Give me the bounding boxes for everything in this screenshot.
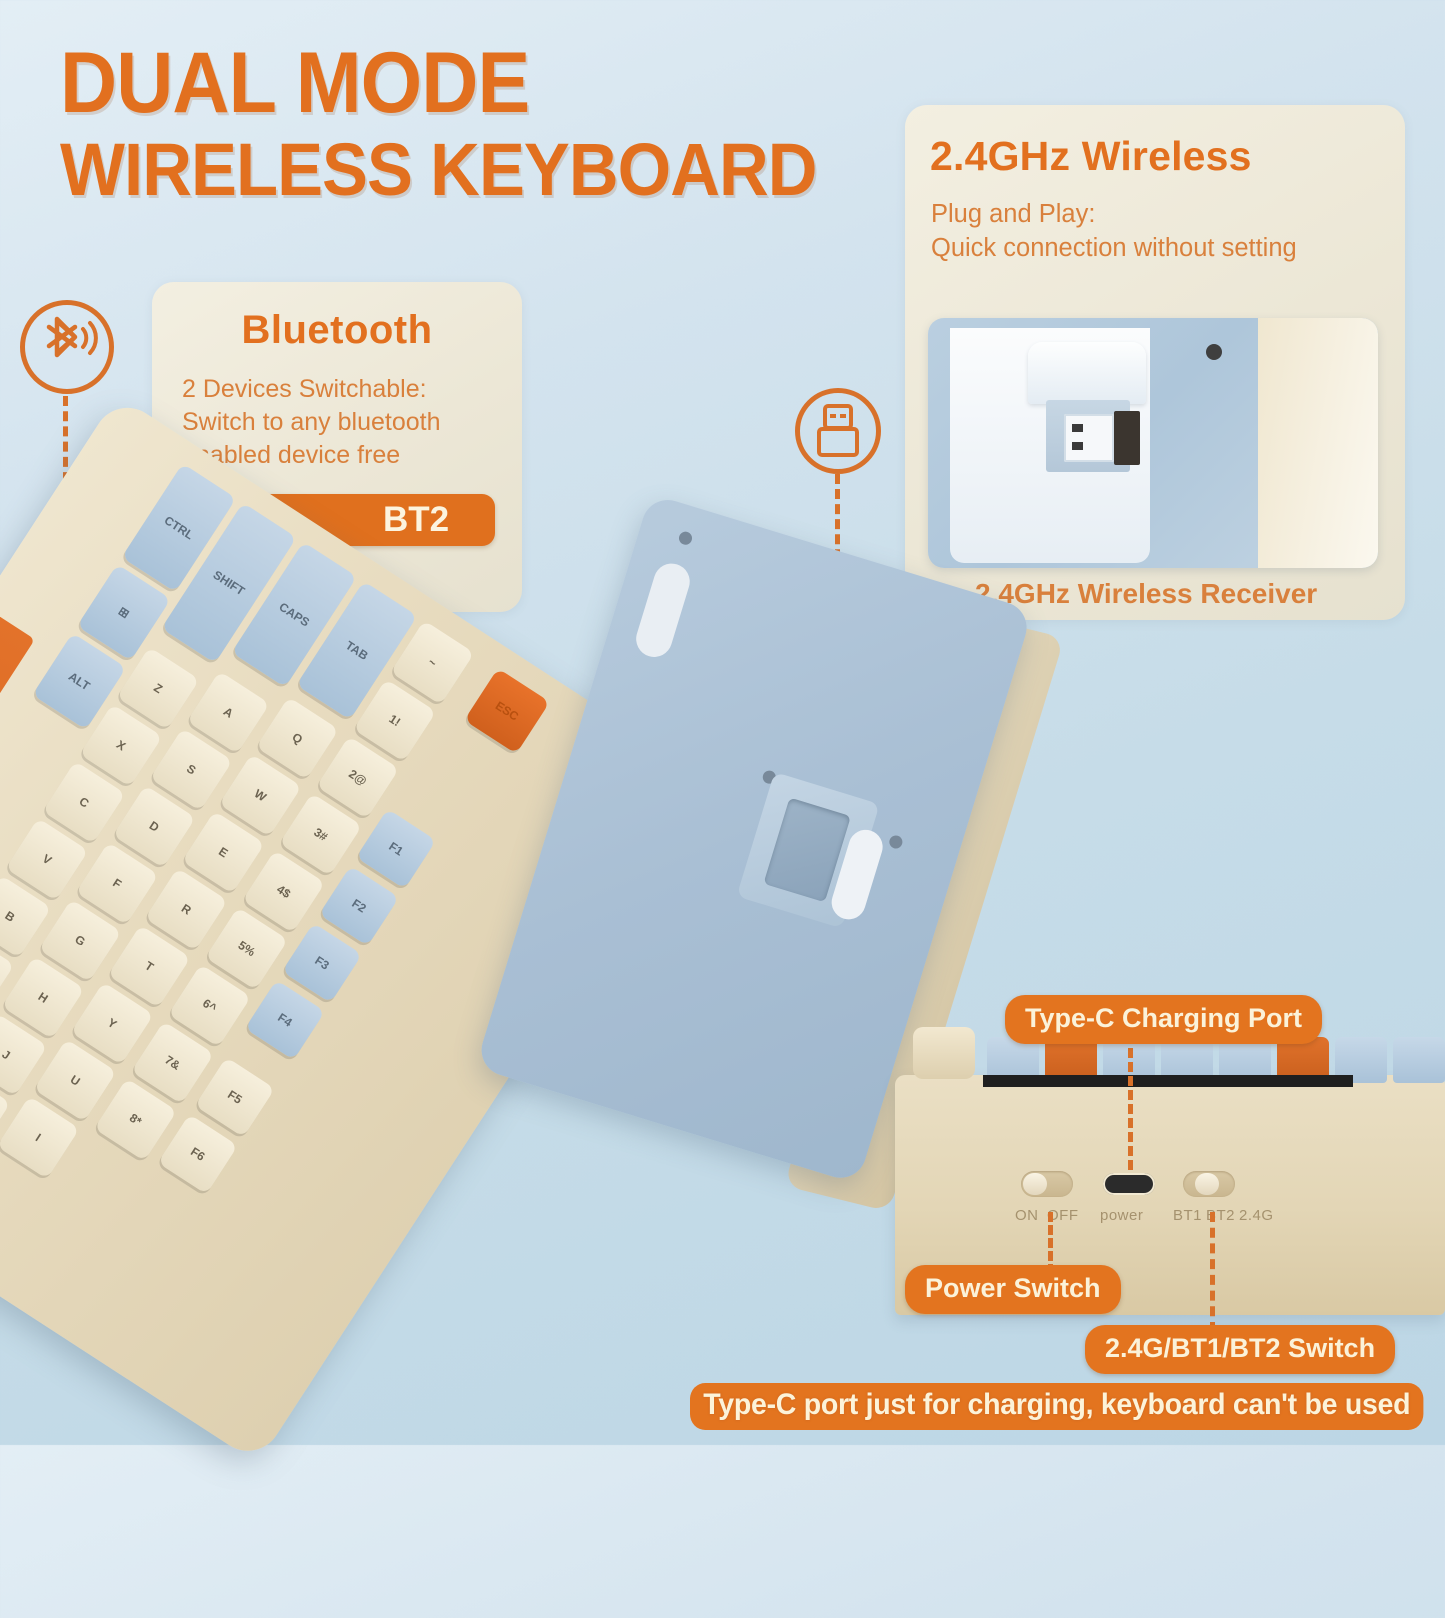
wireless-heading: 2.4GHz Wireless (905, 105, 1405, 180)
wireless-desc-line-1: Plug and Play: (931, 198, 1405, 232)
bluetooth-desc-line-1: 2 Devices Switchable: (182, 373, 522, 406)
wireless-description: Plug and Play: Quick connection without … (905, 180, 1405, 265)
receiver-caption: 2.4GHz Wireless Receiver (975, 578, 1317, 610)
rubber-foot-top-left (632, 559, 694, 661)
bt2-label[interactable]: BT2 (383, 500, 449, 540)
bluetooth-desc-line-2: Switch to any bluetooth (182, 406, 522, 439)
micro-label-bt1: BT1 (1173, 1207, 1202, 1224)
edge-keycap-8 (1393, 1037, 1445, 1083)
keyboard-top-bezel (983, 1075, 1353, 1087)
page-title: DUAL MODE WIRELESS KEYBOARD (60, 42, 890, 207)
power-switch-callout: Power Switch (905, 1265, 1121, 1314)
bottom-disclaimer-banner: Type-C port just for charging, keyboard … (690, 1383, 1424, 1430)
bluetooth-desc-line-3: enabled device free (182, 439, 522, 472)
wireless-desc-line-2: Quick connection without setting (931, 232, 1405, 266)
screw-hole-1 (677, 530, 693, 546)
bluetooth-signal-icon (20, 300, 114, 394)
title-line-2: WIRELESS KEYBOARD (60, 133, 832, 207)
micro-label-power: power (1100, 1207, 1143, 1224)
micro-label-on: ON (1015, 1207, 1039, 1224)
screw-hole-3 (888, 834, 904, 850)
mode-switch-callout: 2.4G/BT1/BT2 Switch (1085, 1325, 1395, 1374)
usb-dongle-icon (795, 388, 881, 474)
type-c-port[interactable] (1103, 1173, 1155, 1195)
mode-switch-control[interactable] (1183, 1171, 1235, 1197)
bluetooth-heading: Bluetooth (152, 282, 522, 353)
power-switch-control[interactable] (1021, 1171, 1073, 1197)
volume-knob (913, 1027, 975, 1079)
keycap-esc[interactable]: ESC (464, 668, 550, 754)
micro-label-24g: 2.4G (1239, 1207, 1274, 1224)
mode-leader-line (1210, 1212, 1215, 1332)
receiver-compartment-photo (928, 318, 1378, 568)
typec-leader-line (1128, 1048, 1133, 1170)
infographic-canvas: DUAL MODE WIRELESS KEYBOARD Bluetooth 2 … (0, 0, 1445, 1445)
title-line-1: DUAL MODE (60, 42, 824, 125)
typec-callout: Type-C Charging Port (1005, 995, 1322, 1044)
